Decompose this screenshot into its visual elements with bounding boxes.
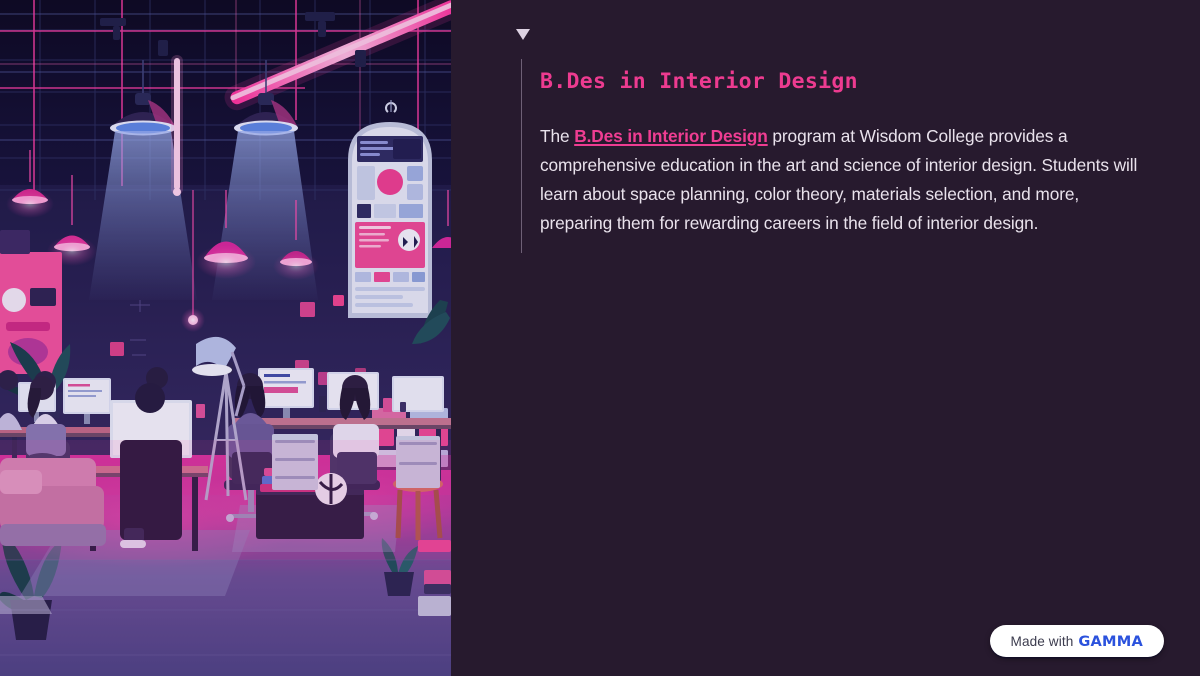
- program-description: The B.Des in Interior Design program at …: [540, 122, 1140, 239]
- paragraph-lead: The: [540, 126, 574, 146]
- badge-prefix-label: Made with: [1011, 634, 1074, 649]
- slide-root: B.Des in Interior Design The B.Des in In…: [0, 0, 1200, 676]
- triangle-down-icon[interactable]: [516, 29, 530, 40]
- studio-illustration-svg: [0, 0, 451, 676]
- made-with-gamma-badge[interactable]: Made with GAMMA: [990, 625, 1164, 657]
- content-panel: B.Des in Interior Design The B.Des in In…: [451, 0, 1200, 676]
- studio-illustration: [0, 0, 451, 676]
- gamma-logo-wordmark: GAMMA: [1078, 633, 1143, 650]
- page-title: B.Des in Interior Design: [540, 69, 1161, 96]
- program-link[interactable]: B.Des in Interior Design: [574, 126, 768, 146]
- program-text-block: B.Des in Interior Design The B.Des in In…: [521, 59, 1161, 253]
